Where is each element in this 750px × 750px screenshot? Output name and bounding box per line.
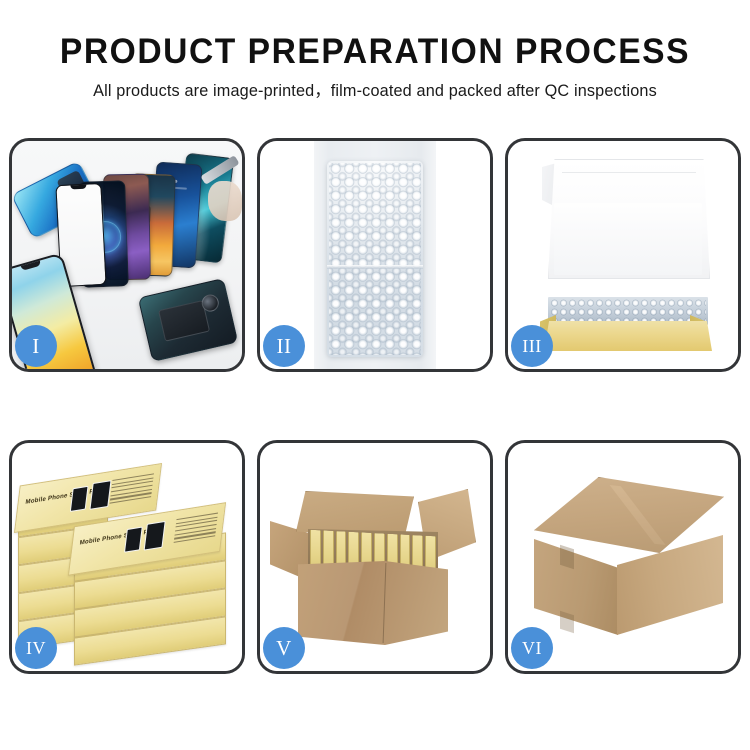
- box-print-thumbnail: [89, 480, 111, 510]
- step-panel-3[interactable]: III: [505, 138, 741, 372]
- box-print-thumbnail: [144, 521, 166, 551]
- box-print-spec-lines: [173, 513, 218, 548]
- step-panel-1[interactable]: I: [9, 138, 245, 372]
- step-panel-6[interactable]: VI: [505, 440, 741, 674]
- foam-insert: [554, 203, 702, 275]
- process-steps-grid: I II III: [0, 138, 750, 674]
- step-panel-2[interactable]: II: [257, 138, 493, 372]
- step-panel-5[interactable]: V: [257, 440, 493, 674]
- step-panel-4[interactable]: Mobile Phone Spare Parts Mobile Phone Sp…: [9, 440, 245, 674]
- step-badge-6: VI: [511, 627, 553, 669]
- carton-flap-seam-upper: [560, 545, 574, 570]
- carton-body: [298, 561, 448, 645]
- bubble-wrap-in-box: [548, 297, 708, 325]
- bubble-wrapped-product: [327, 161, 423, 357]
- page-subtitle: All products are image-printed，film-coat…: [6, 78, 745, 104]
- box-front-panel: [544, 321, 712, 351]
- box-print-thumbnail: [70, 486, 89, 512]
- technician-hand: [208, 181, 242, 221]
- step-badge-1: I: [15, 325, 57, 367]
- step-badge-2: II: [263, 325, 305, 367]
- bubble-pattern-in-box: [550, 299, 706, 323]
- step-badge-3: III: [511, 325, 553, 367]
- page-title: PRODUCT PREPARATION PROCESS: [15, 30, 735, 74]
- page-header: PRODUCT PREPARATION PROCESS All products…: [0, 0, 750, 104]
- bubble-pattern-secondary: [329, 163, 421, 355]
- box-print-thumbnail: [124, 527, 143, 553]
- step-badge-4: IV: [15, 627, 57, 669]
- bubble-wrap-seam: [327, 265, 423, 269]
- step-badge-5: V: [263, 627, 305, 669]
- box-print-spec-lines: [109, 473, 154, 508]
